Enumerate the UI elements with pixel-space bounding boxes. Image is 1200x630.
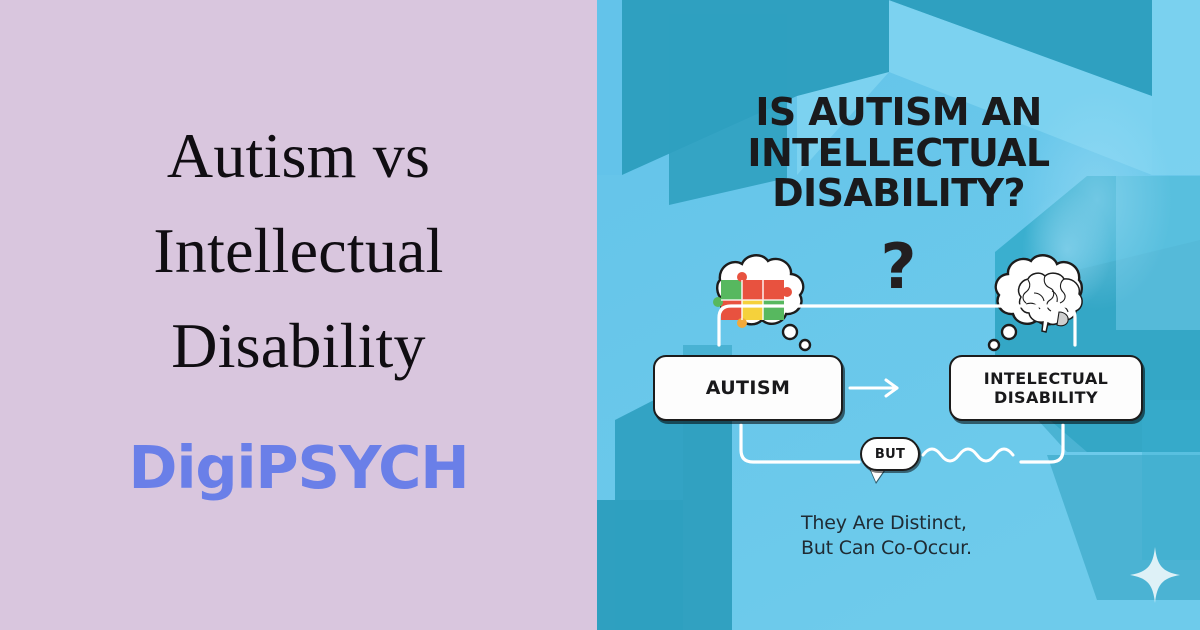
tagline: They Are Distinct, But Can Co-Occur. [801,511,972,562]
intellectual-disability-box-label: INTELECTUAL DISABILITY [984,369,1108,407]
headline-line-2: INTELLECTUAL [625,133,1172,174]
brain-thought-bubble-icon [982,244,1112,354]
title-line-1: Autism vs [0,109,597,204]
intellectual-disability-box[interactable]: INTELECTUAL DISABILITY [949,355,1143,421]
autism-box[interactable]: AUTISM [653,355,843,421]
title-line-2: Intellectual [0,204,597,299]
autism-box-label: AUTISM [706,377,791,399]
infographic-card: Autism vs Intellectual Disability DigiPS… [0,0,1200,630]
title-line-3: Disability [0,299,597,394]
tagline-line-2: But Can Co-Occur. [801,536,972,561]
tagline-line-1: They Are Distinct, [801,511,972,536]
headline-line-3: DISABILITY? [625,173,1172,214]
headline-line-1: IS AUTISM AN [625,92,1172,133]
four-point-star-icon [1130,547,1180,603]
but-speech-bubble: BUT [860,437,920,471]
puzzle-pieces-thought-bubble-icon [687,244,817,354]
left-title-panel: Autism vs Intellectual Disability DigiPS… [0,0,597,630]
id-box-line-2: DISABILITY [994,388,1098,407]
id-box-line-1: INTELECTUAL [984,369,1108,388]
but-label: BUT [875,447,905,462]
right-illustration-panel: IS AUTISM AN INTELLECTUAL DISABILITY? ? [597,0,1200,630]
page-title: Autism vs Intellectual Disability [0,109,597,393]
headline: IS AUTISM AN INTELLECTUAL DISABILITY? [597,92,1200,214]
brand-logo: DigiPSYCH [129,438,469,497]
